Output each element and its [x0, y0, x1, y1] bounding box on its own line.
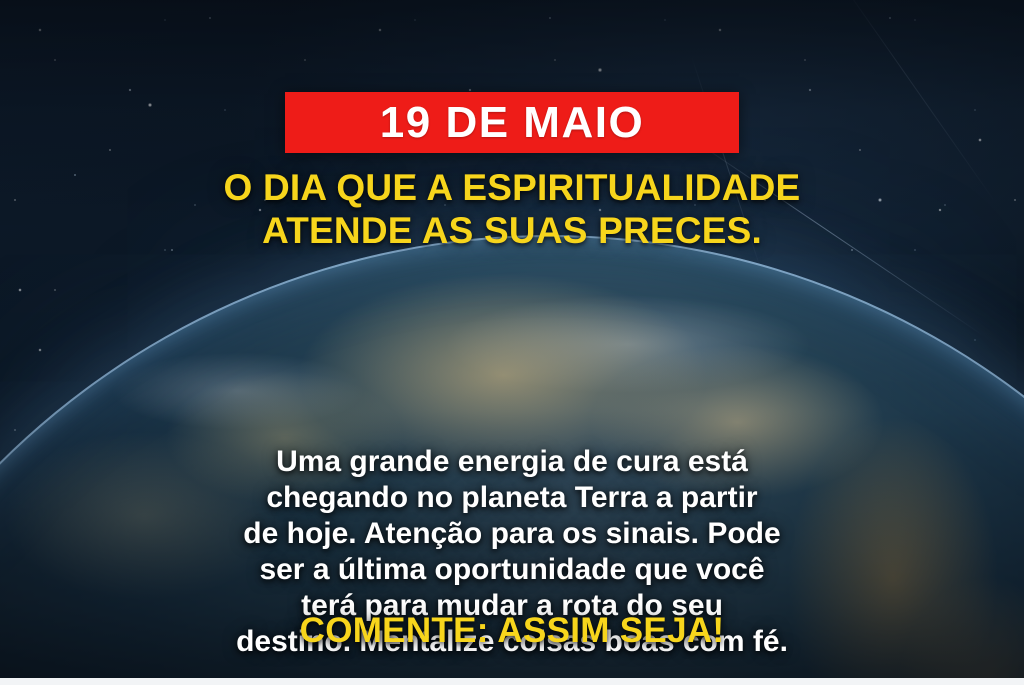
date-banner-text: 19 DE MAIO — [380, 101, 644, 145]
body-line-2: chegando no planeta Terra a partir — [44, 480, 980, 516]
poster-content: 19 DE MAIO O DIA QUE A ESPIRITUALIDADE A… — [0, 0, 1024, 685]
call-to-action-text: COMENTE: ASSIM SEJA! — [0, 613, 1024, 648]
body-line-3: de hoje. Atenção para os sinais. Pode — [44, 516, 980, 552]
bottom-strip — [0, 678, 1024, 685]
headline: O DIA QUE A ESPIRITUALIDADE ATENDE AS SU… — [0, 166, 1024, 253]
poster-image: 19 DE MAIO O DIA QUE A ESPIRITUALIDADE A… — [0, 0, 1024, 685]
date-banner: 19 DE MAIO — [285, 92, 739, 153]
headline-line-2: ATENDE AS SUAS PRECES. — [36, 209, 988, 252]
body-line-1: Uma grande energia de cura está — [44, 444, 980, 480]
headline-line-1: O DIA QUE A ESPIRITUALIDADE — [224, 167, 801, 208]
body-line-4: ser a última oportunidade que você — [44, 552, 980, 588]
